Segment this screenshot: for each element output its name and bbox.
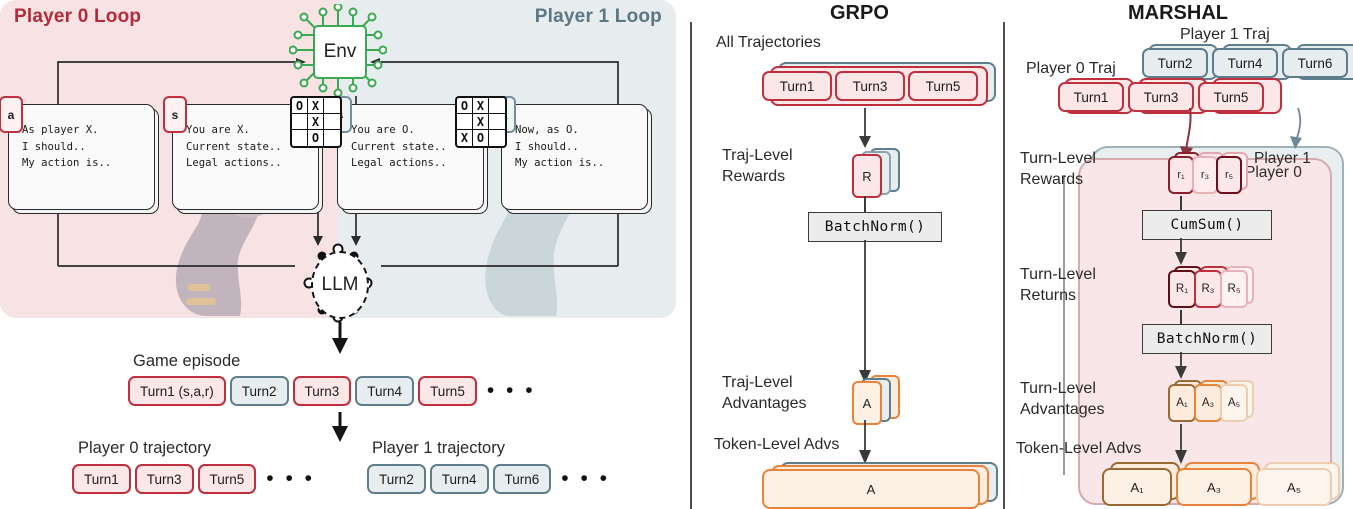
- tictactoe-board-player0: O X X O: [290, 96, 342, 148]
- cell: [292, 114, 308, 130]
- marshal-advantage-3: A₃: [1194, 384, 1222, 422]
- grpo-title: GRPO: [830, 2, 889, 25]
- player1-action-card: a Now, as O. I should.. My action is..: [501, 104, 646, 208]
- action-tag-player0: a: [0, 96, 23, 133]
- game-episode-label: Game episode: [133, 352, 240, 371]
- cell: O: [308, 130, 324, 146]
- turn-level-advantages-label: Turn-Level Advantages: [1020, 378, 1105, 420]
- marshal-title: MARSHAL: [1128, 2, 1228, 25]
- p1-ellipsis: • • •: [561, 467, 610, 491]
- cell: X: [308, 114, 324, 130]
- grpo-arrow-3: [854, 420, 878, 466]
- p0-turn-chip[interactable]: Turn3: [135, 464, 194, 494]
- marshal-reward-1: r₁: [1168, 156, 1194, 194]
- grpo-connector-1: [864, 196, 866, 212]
- p1-turn-chip[interactable]: Turn2: [367, 464, 426, 494]
- marshal-player1-turn-stack: Turn2 Turn4 Turn6: [1142, 48, 1348, 78]
- llm-node: LLM: [295, 243, 381, 325]
- turn-level-rewards-label: Turn-Level Rewards: [1020, 148, 1096, 190]
- player1-loop-title: Player 1 Loop: [535, 6, 662, 28]
- turn-level-returns-label: Turn-Level Returns: [1020, 264, 1096, 306]
- episode-ellipsis: • • •: [487, 379, 536, 403]
- all-trajectories-label: All Trajectories: [716, 32, 821, 53]
- traj-level-advantages-label: Traj-Level Advantages: [722, 372, 807, 414]
- cell: [324, 114, 340, 130]
- tictactoe-board-player1: O X X X O: [455, 96, 507, 148]
- cell: X: [308, 98, 324, 114]
- two-player-loop-panel: Player 0 Loop Player 1 Loop Env: [0, 0, 676, 318]
- cell: [292, 130, 308, 146]
- p0-turn-chip[interactable]: Turn1: [72, 464, 131, 494]
- state-tag-player0: s: [163, 96, 187, 133]
- player0-trajectory-row: Turn1 Turn3 Turn5 • • •: [72, 464, 315, 494]
- cell: [457, 114, 473, 130]
- cell: [489, 114, 505, 130]
- traj-level-rewards-label: Traj-Level Rewards: [722, 145, 793, 187]
- marshal-return-3: R₃: [1194, 270, 1222, 308]
- grpo-turn-chip[interactable]: Turn5: [908, 71, 978, 101]
- marshal-p1-turn-chip[interactable]: Turn4: [1212, 48, 1278, 78]
- cell: O: [292, 98, 308, 114]
- grpo-arrow-2: [854, 240, 878, 385]
- p1-turn-chip[interactable]: Turn4: [430, 464, 489, 494]
- player0-trajectory-label: Player 0 trajectory: [78, 439, 211, 458]
- marshal-player0-traj-label: Player 0 Traj: [1026, 58, 1116, 79]
- marshal-arrow-1: [1170, 238, 1194, 268]
- cell: [324, 98, 340, 114]
- grpo-token-advantage-stack: A: [762, 462, 997, 508]
- marshal-batchnorm-box: BatchNorm(): [1142, 324, 1272, 354]
- grpo-arrow-1: [845, 108, 885, 150]
- marshal-token-advantage-3: A₃: [1176, 468, 1252, 506]
- grpo-token-advantage-symbol: A: [762, 469, 980, 509]
- player1-trajectory-label: Player 1 trajectory: [372, 439, 505, 458]
- cell: O: [457, 98, 473, 114]
- grpo-advantage-symbol: A: [852, 381, 882, 425]
- env-node: Env: [289, 4, 387, 96]
- column-divider-left: [690, 22, 692, 509]
- player0-loop-title: Player 0 Loop: [14, 6, 141, 28]
- marshal-return-1: R₁: [1168, 270, 1196, 308]
- grpo-turn-chip[interactable]: Turn3: [835, 71, 905, 101]
- grpo-reward-symbol: R: [852, 154, 882, 198]
- cell: [489, 130, 505, 146]
- marshal-p1-turn-chip[interactable]: Turn2: [1142, 48, 1208, 78]
- cell: X: [457, 130, 473, 146]
- grpo-trajectory-stack: Turn1 Turn3 Turn5: [762, 62, 992, 108]
- marshal-token-advantage-1: A₁: [1102, 468, 1172, 506]
- episode-turn-chip[interactable]: Turn5: [418, 376, 477, 406]
- p0-ellipsis: • • •: [266, 467, 315, 491]
- marshal-advantage-1: A₁: [1168, 384, 1196, 422]
- grpo-token-level-advs-label: Token-Level Advs: [714, 434, 839, 455]
- marshal-cumsum-box: CumSum(): [1142, 210, 1272, 240]
- marshal-arrow-2: [1170, 352, 1194, 382]
- marshal-reward-3: r₃: [1192, 156, 1218, 194]
- grpo-advantage-stack: A: [848, 375, 908, 423]
- marshal-player1-traj-label: Player 1 Traj: [1180, 24, 1270, 45]
- episode-turn-chip[interactable]: Turn1 (s,a,r): [128, 376, 226, 406]
- cell: X: [473, 114, 489, 130]
- marshal-reward-5: r₅: [1216, 156, 1242, 194]
- marshal-token-level-advs-label: Token-Level Advs: [1016, 438, 1141, 459]
- episode-turn-chip[interactable]: Turn4: [355, 376, 414, 406]
- column-divider-right: [1003, 22, 1005, 509]
- marshal-return-5: R₅: [1220, 270, 1248, 308]
- marshal-vertical-rule: [1063, 175, 1065, 475]
- grpo-reward-stack: R: [848, 148, 908, 196]
- episode-turn-chip[interactable]: Turn2: [230, 376, 289, 406]
- grpo-turn-chip[interactable]: Turn1: [762, 71, 832, 101]
- marshal-reward-stack: r₁ r₃ r₅: [1160, 152, 1270, 196]
- game-episode-row: Turn1 (s,a,r) Turn2 Turn3 Turn4 Turn5 • …: [128, 376, 536, 406]
- cell: [324, 130, 340, 146]
- marshal-connector-1: [1180, 196, 1182, 210]
- marshal-arrow-3: [1170, 424, 1194, 466]
- marshal-return-stack: R₁ R₃ R₅: [1160, 266, 1270, 310]
- marshal-token-advantage-5: A₅: [1256, 468, 1332, 506]
- marshal-p1-turn-chip[interactable]: Turn6: [1282, 48, 1348, 78]
- cell: [489, 98, 505, 114]
- marshal-connector-2: [1180, 310, 1182, 324]
- p0-turn-chip[interactable]: Turn5: [198, 464, 257, 494]
- marshal-p0-turn-chip[interactable]: Turn1: [1058, 82, 1124, 112]
- cell: O: [473, 130, 489, 146]
- cell: X: [473, 98, 489, 114]
- player0-action-card: a As player X. I should.. My action is..: [8, 104, 153, 208]
- marshal-advantage-stack: A₁ A₃ A₅: [1160, 380, 1270, 424]
- action-card-text-player0: As player X. I should.. My action is..: [22, 122, 147, 172]
- grpo-batchnorm-box: BatchNorm(): [808, 212, 942, 242]
- episode-turn-chip[interactable]: Turn3: [293, 376, 352, 406]
- marshal-token-advantage-stack: A₁ A₃ A₅: [1096, 462, 1336, 506]
- p1-turn-chip[interactable]: Turn6: [493, 464, 552, 494]
- marshal-advantage-5: A₅: [1220, 384, 1248, 422]
- player1-trajectory-row: Turn2 Turn4 Turn6 • • •: [367, 464, 610, 494]
- env-label: Env: [313, 25, 367, 79]
- llm-label: LLM: [311, 251, 369, 319]
- action-card-text-player1: Now, as O. I should.. My action is..: [515, 122, 640, 172]
